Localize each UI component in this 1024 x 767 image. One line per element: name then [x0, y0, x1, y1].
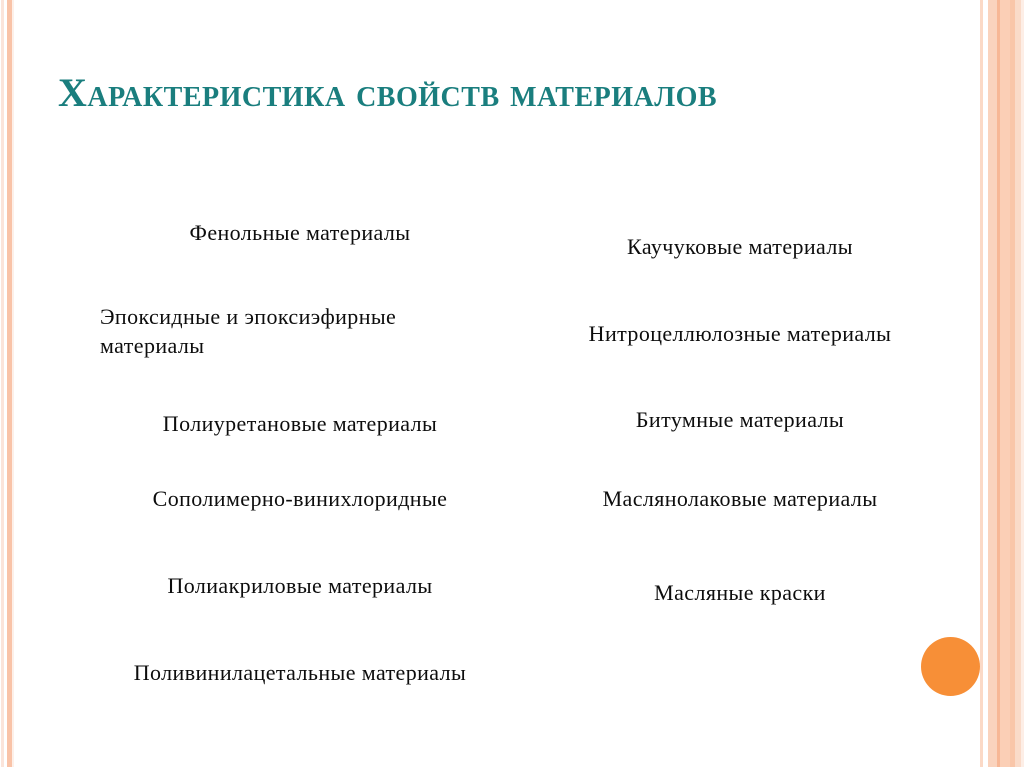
material-label: Поливинилацетальные материалы	[134, 660, 466, 685]
list-item: Поливинилацетальные материалы	[40, 658, 560, 687]
material-label: Полиакриловые материалы	[167, 573, 432, 598]
list-item: Нитроцеллюлозные материалы	[520, 319, 960, 348]
list-item: Маслянолаковые материалы	[520, 484, 960, 513]
orange-circle-icon	[921, 637, 980, 696]
list-item: Эпоксидные и эпоксиэфирные материалы	[40, 302, 560, 360]
material-label: Нитроцеллюлозные материалы	[589, 321, 892, 346]
material-label: Эпоксидные и эпоксиэфирные материалы	[100, 302, 500, 360]
material-label: Битумные материалы	[636, 407, 844, 432]
slide-title: Характеристика свойств материалов	[58, 69, 798, 116]
content-columns: Фенольные материалы Эпоксидные и эпоксиэ…	[0, 196, 1024, 716]
list-item: Битумные материалы	[520, 405, 960, 434]
list-item: Сополимерно-винихлоридные	[40, 484, 560, 513]
material-label: Полиуретановые материалы	[163, 411, 437, 436]
list-item: Фенольные материалы	[40, 218, 560, 247]
material-label: Сополимерно-винихлоридные	[153, 486, 448, 511]
material-label: Масляные краски	[654, 580, 826, 605]
material-label: Фенольные материалы	[190, 220, 411, 245]
presentation-slide: Характеристика свойств материалов Феноль…	[0, 0, 1024, 767]
list-item: Каучуковые материалы	[520, 232, 960, 261]
material-label: Маслянолаковые материалы	[603, 486, 878, 511]
list-item: Полиакриловые материалы	[40, 571, 560, 600]
material-label: Каучуковые материалы	[627, 234, 853, 259]
list-item: Масляные краски	[520, 578, 960, 607]
list-item: Полиуретановые материалы	[40, 409, 560, 438]
